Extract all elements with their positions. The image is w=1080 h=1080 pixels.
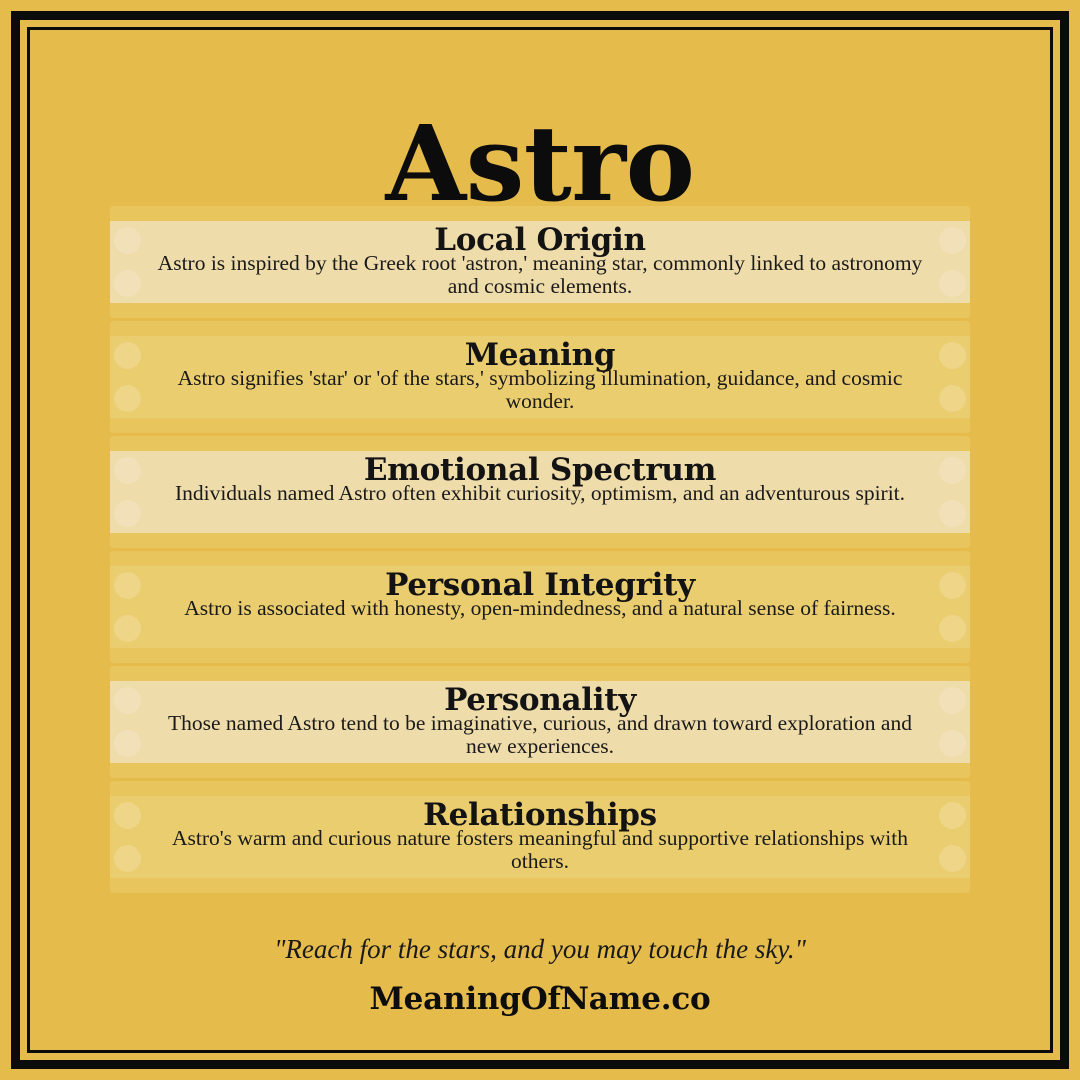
name-card-poster: Astro Local Origin Astro is inspired by …: [0, 0, 1080, 1080]
page-title: Astro: [0, 108, 1080, 220]
ribbon-fold-blob-icon: [939, 500, 966, 527]
ribbon-fold-blob-icon: [114, 227, 141, 254]
footer-brand: MeaningOfName.co: [0, 981, 1080, 1017]
attribute-card: Personality Those named Astro tend to be…: [110, 666, 970, 778]
attribute-card: Personal Integrity Astro is associated w…: [110, 551, 970, 663]
ribbon-fold-blob-icon: [114, 457, 141, 484]
ribbon-fold-blob-icon: [939, 342, 966, 369]
ribbon-fold-blob-icon: [939, 845, 966, 872]
attribute-card-body: Individuals named Astro often exhibit cu…: [154, 482, 926, 505]
ribbon-fold-blob-icon: [939, 270, 966, 297]
ribbon-fold-blob-icon: [114, 687, 141, 714]
ribbon-fold-blob-icon: [939, 730, 966, 757]
footer-quote: "Reach for the stars, and you may touch …: [0, 934, 1080, 965]
attribute-card-panel: Local Origin Astro is inspired by the Gr…: [110, 221, 970, 303]
ribbon-fold-blob-icon: [939, 802, 966, 829]
ribbon-fold-blob-icon: [114, 730, 141, 757]
ribbon-fold-blob-icon: [114, 572, 141, 599]
attribute-card: Emotional Spectrum Individuals named Ast…: [110, 436, 970, 548]
ribbon-fold-blob-icon: [114, 802, 141, 829]
attribute-card-list: Local Origin Astro is inspired by the Gr…: [110, 206, 970, 896]
attribute-card-body: Astro is associated with honesty, open-m…: [154, 597, 926, 620]
ribbon-fold-blob-icon: [114, 270, 141, 297]
ribbon-fold-blob-icon: [939, 457, 966, 484]
attribute-card-panel: Personality Those named Astro tend to be…: [110, 681, 970, 763]
ribbon-fold-blob-icon: [114, 615, 141, 642]
attribute-card-body: Those named Astro tend to be imaginative…: [154, 712, 926, 758]
ribbon-fold-blob-icon: [114, 342, 141, 369]
attribute-card-panel: Relationships Astro's warm and curious n…: [110, 796, 970, 878]
ribbon-fold-blob-icon: [939, 385, 966, 412]
attribute-card-body: Astro signifies 'star' or 'of the stars,…: [154, 367, 926, 413]
attribute-card-body: Astro is inspired by the Greek root 'ast…: [154, 252, 926, 298]
attribute-card: Local Origin Astro is inspired by the Gr…: [110, 206, 970, 318]
ribbon-fold-blob-icon: [939, 572, 966, 599]
ribbon-fold-blob-icon: [939, 615, 966, 642]
attribute-card-body: Astro's warm and curious nature fosters …: [154, 827, 926, 873]
ribbon-fold-blob-icon: [114, 385, 141, 412]
ribbon-fold-blob-icon: [114, 500, 141, 527]
attribute-card-panel: Meaning Astro signifies 'star' or 'of th…: [110, 336, 970, 418]
ribbon-fold-blob-icon: [939, 227, 966, 254]
ribbon-fold-blob-icon: [939, 687, 966, 714]
attribute-card-panel: Personal Integrity Astro is associated w…: [110, 566, 970, 648]
attribute-card: Meaning Astro signifies 'star' or 'of th…: [110, 321, 970, 433]
ribbon-fold-blob-icon: [114, 845, 141, 872]
attribute-card-panel: Emotional Spectrum Individuals named Ast…: [110, 451, 970, 533]
attribute-card: Relationships Astro's warm and curious n…: [110, 781, 970, 893]
